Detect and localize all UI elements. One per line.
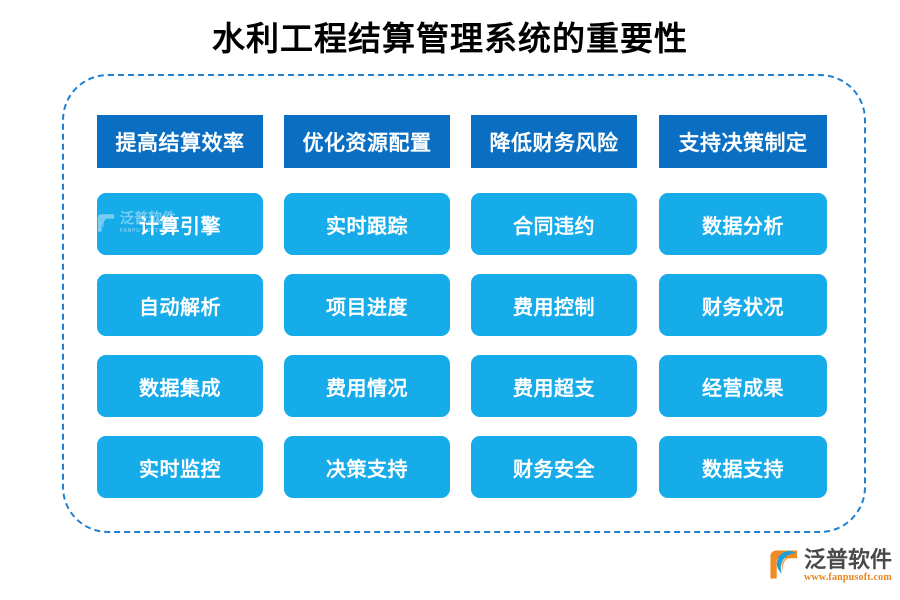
category-header-2[interactable]: 优化资源配置 (284, 115, 450, 168)
feature-cell[interactable]: 合同违约 (471, 193, 637, 255)
feature-cell[interactable]: 数据集成 (97, 355, 263, 417)
feature-cell[interactable]: 费用控制 (471, 274, 637, 336)
feature-cell-label: 数据集成 (139, 372, 221, 401)
feature-cell-label: 财务状况 (702, 291, 784, 320)
feature-cell-label: 实时监控 (139, 453, 221, 482)
category-header-label: 优化资源配置 (303, 127, 432, 157)
category-header-1[interactable]: 提高结算效率 (97, 115, 263, 168)
feature-cell-label: 项目进度 (326, 291, 408, 320)
feature-cell-label: 自动解析 (139, 291, 221, 320)
category-column-4: 支持决策制定 数据分析 财务状况 经营成果 数据支持 (659, 115, 827, 495)
brand-website-url: www.fanpusoft.com (804, 572, 892, 584)
feature-cell[interactable]: 财务状况 (659, 274, 827, 336)
brand-company-name: 泛普软件 (804, 548, 892, 572)
category-header-label: 降低财务风险 (490, 127, 619, 157)
feature-cell[interactable]: 项目进度 (284, 274, 450, 336)
feature-cell-label: 经营成果 (702, 372, 784, 401)
matrix-grid: 提高结算效率 计算引擎 自动解析 数据集成 实时监控 优化资源配置 实时跟踪 (97, 115, 826, 495)
feature-cell[interactable]: 实时跟踪 (284, 193, 450, 255)
feature-cell-label: 合同违约 (513, 210, 595, 239)
category-header-label: 支持决策制定 (679, 127, 808, 157)
feature-cell[interactable]: 数据支持 (659, 436, 827, 498)
category-header-4[interactable]: 支持决策制定 (659, 115, 827, 168)
fanpu-brand-icon (768, 549, 799, 580)
feature-cell-label: 决策支持 (326, 453, 408, 482)
feature-cell-label: 数据支持 (702, 453, 784, 482)
feature-cell-label: 费用情况 (326, 372, 408, 401)
category-header-label: 提高结算效率 (116, 127, 245, 157)
brand-text-block: 泛普软件 www.fanpusoft.com (804, 548, 892, 584)
feature-cell[interactable]: 实时监控 (97, 436, 263, 498)
feature-cell-label: 计算引擎 (139, 210, 221, 239)
category-column-3: 降低财务风险 合同违约 费用控制 费用超支 财务安全 (471, 115, 637, 495)
feature-cell[interactable]: 决策支持 (284, 436, 450, 498)
feature-cell-label: 费用超支 (513, 372, 595, 401)
feature-cell-label: 费用控制 (513, 291, 595, 320)
feature-cell[interactable]: 费用情况 (284, 355, 450, 417)
feature-cell[interactable]: 费用超支 (471, 355, 637, 417)
feature-cell[interactable]: 计算引擎 (97, 193, 263, 255)
feature-cell[interactable]: 经营成果 (659, 355, 827, 417)
category-column-2: 优化资源配置 实时跟踪 项目进度 费用情况 决策支持 (284, 115, 450, 495)
feature-cell[interactable]: 数据分析 (659, 193, 827, 255)
category-header-3[interactable]: 降低财务风险 (471, 115, 637, 168)
feature-cell-label: 财务安全 (513, 453, 595, 482)
feature-cell[interactable]: 财务安全 (471, 436, 637, 498)
feature-cell-label: 实时跟踪 (326, 210, 408, 239)
page-title: 水利工程结算管理系统的重要性 (0, 18, 900, 62)
feature-cell-label: 数据分析 (702, 210, 784, 239)
infographic-canvas: 水利工程结算管理系统的重要性 提高结算效率 计算引擎 自动解析 数据集成 实时监… (0, 0, 900, 600)
feature-cell[interactable]: 自动解析 (97, 274, 263, 336)
brand-logo: 泛普软件 www.fanpusoft.com (768, 548, 894, 592)
category-column-1: 提高结算效率 计算引擎 自动解析 数据集成 实时监控 (97, 115, 263, 495)
